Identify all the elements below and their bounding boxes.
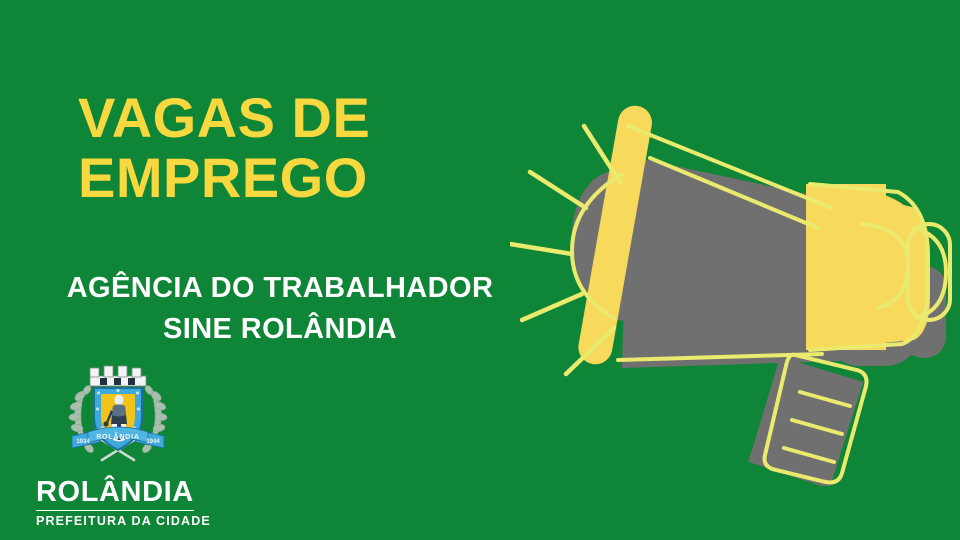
svg-text:1944: 1944 xyxy=(146,439,160,445)
brand-name: ROLÂNDIA xyxy=(36,478,194,511)
page-subtitle: AGÊNCIA DO TRABALHADOR SINE ROLÂNDIA xyxy=(0,268,560,350)
brand-tagline: PREFEITURA DA CIDADE xyxy=(36,515,236,528)
poster-canvas: VAGAS DE EMPREGO AGÊNCIA DO TRABALHADOR … xyxy=(0,0,960,540)
svg-text:ROLÂNDIA: ROLÂNDIA xyxy=(96,432,139,441)
svg-text:1934: 1934 xyxy=(76,439,90,445)
megaphone-icon xyxy=(510,96,960,486)
page-title: VAGAS DE EMPREGO xyxy=(78,88,548,208)
coat-of-arms-icon: ROLÂNDIA 1934 1944 xyxy=(56,362,180,472)
brand-lockup: ROLÂNDIA 1934 1944 ROLÂNDIA PREFEITURA D… xyxy=(36,362,236,528)
